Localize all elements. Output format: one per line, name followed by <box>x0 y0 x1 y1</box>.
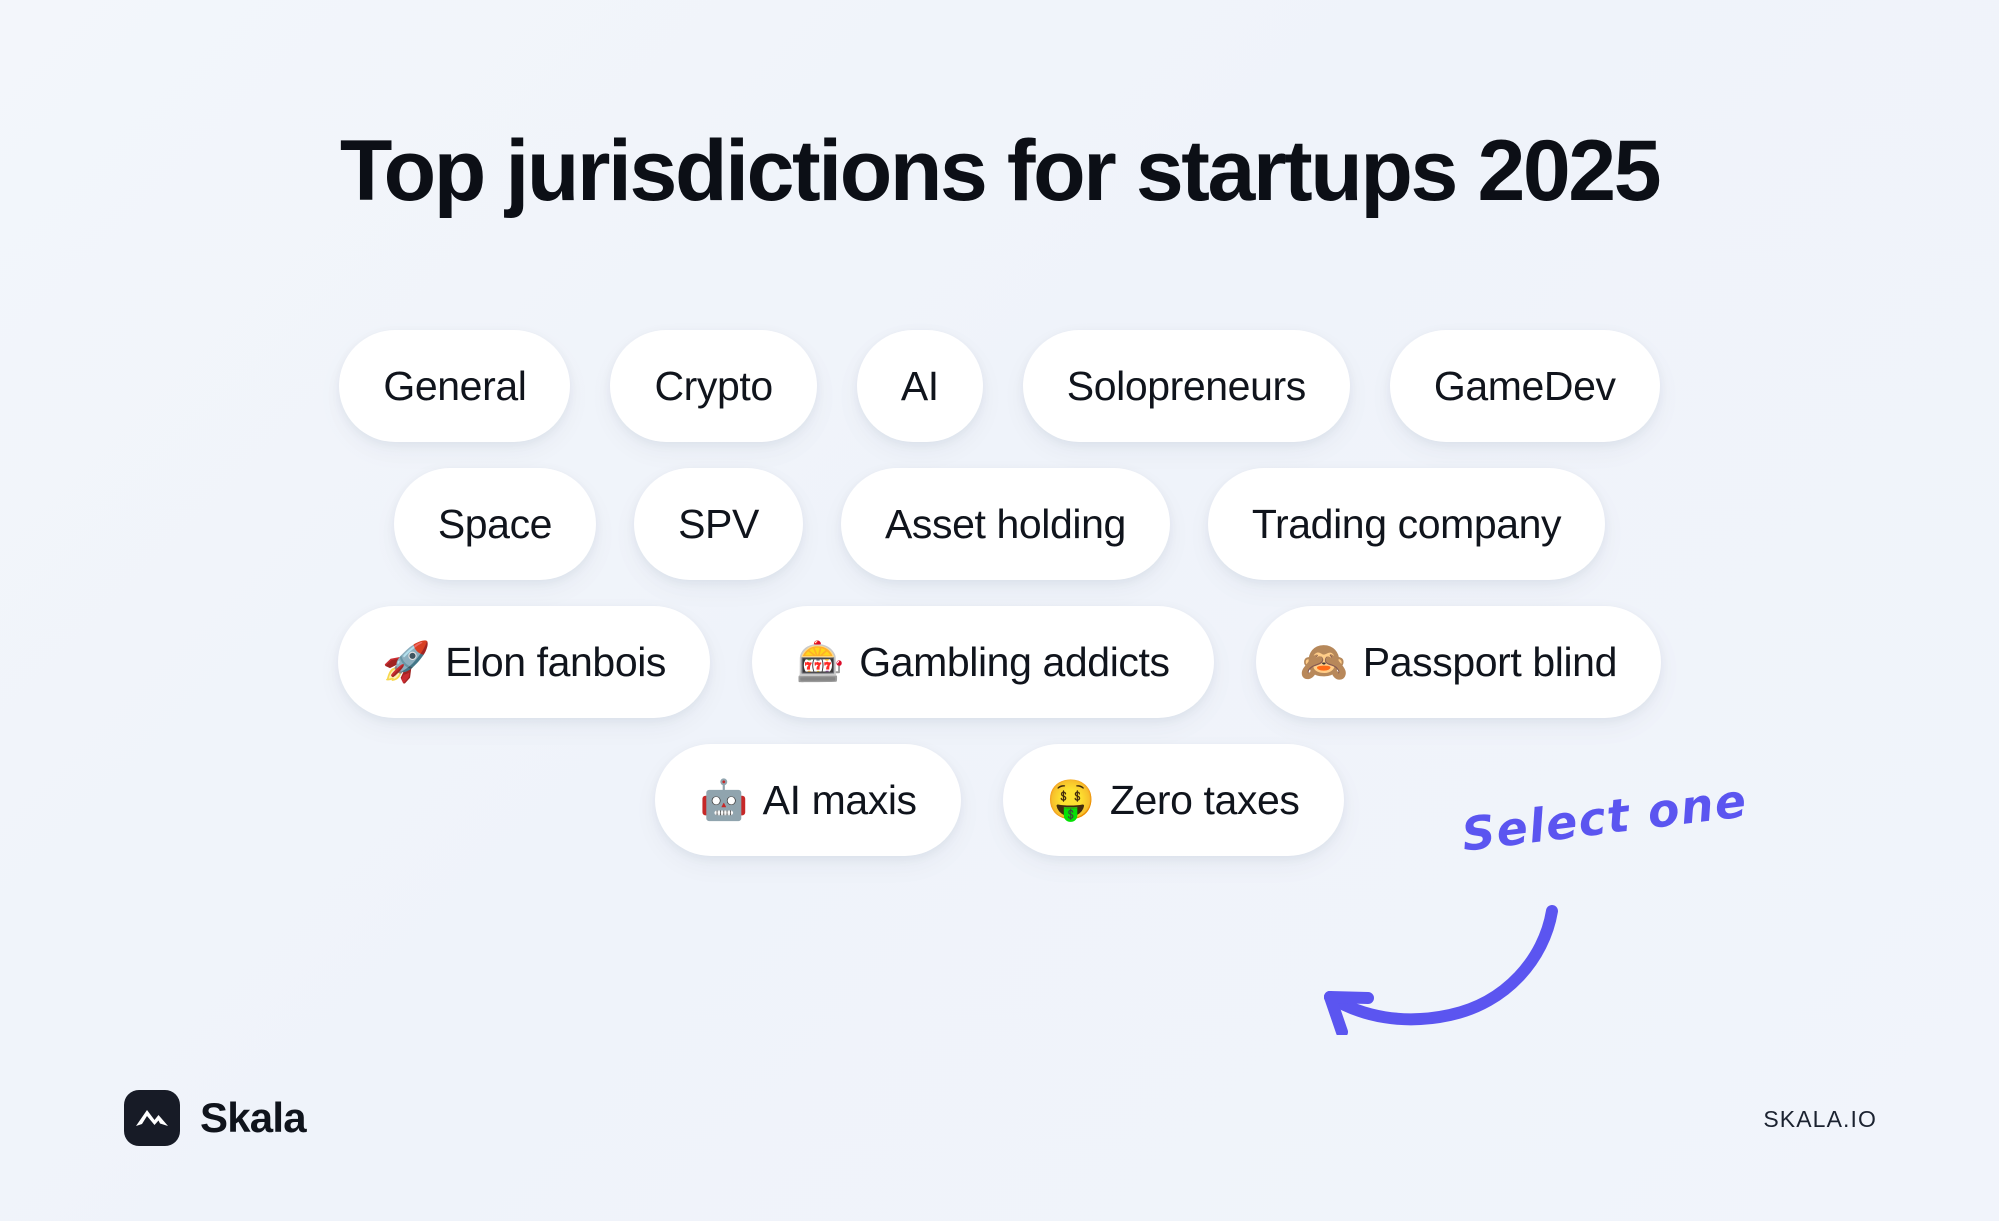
pill-label: Space <box>438 501 552 548</box>
slot-machine-icon: 🎰 <box>796 643 844 682</box>
pill-label: Gambling addicts <box>859 639 1169 686</box>
money-mouth-face-icon: 🤑 <box>1047 781 1095 820</box>
brand-lockup: Skala <box>124 1090 306 1146</box>
pill-spv[interactable]: SPV <box>634 468 803 580</box>
pill-label: Crypto <box>654 363 772 410</box>
pill-label: Trading company <box>1252 501 1561 548</box>
pill-zero-taxes[interactable]: 🤑 Zero taxes <box>1003 744 1344 856</box>
mountain-logo-icon <box>124 1090 180 1146</box>
pill-row-3: 🚀 Elon fanbois 🎰 Gambling addicts 🙈 Pass… <box>0 606 1999 718</box>
pill-gamedev[interactable]: GameDev <box>1390 330 1660 442</box>
pill-general[interactable]: General <box>339 330 570 442</box>
pill-label: Zero taxes <box>1110 777 1300 824</box>
see-no-evil-monkey-icon: 🙈 <box>1300 643 1348 682</box>
pill-elon-fanbois[interactable]: 🚀 Elon fanbois <box>338 606 710 718</box>
pill-label: Asset holding <box>885 501 1126 548</box>
pill-solopreneurs[interactable]: Solopreneurs <box>1023 330 1350 442</box>
pill-row-2: Space SPV Asset holding Trading company <box>0 468 1999 580</box>
site-url: SKALA.IO <box>1763 1106 1877 1133</box>
pill-passport-blind[interactable]: 🙈 Passport blind <box>1256 606 1661 718</box>
pill-ai[interactable]: AI <box>857 330 983 442</box>
pill-ai-maxis[interactable]: 🤖 AI maxis <box>655 744 960 856</box>
pill-trading-company[interactable]: Trading company <box>1208 468 1605 580</box>
pill-crypto[interactable]: Crypto <box>610 330 816 442</box>
pill-asset-holding[interactable]: Asset holding <box>841 468 1170 580</box>
pill-row-1: General Crypto AI Solopreneurs GameDev <box>0 330 1999 442</box>
brand-name: Skala <box>200 1094 306 1142</box>
robot-icon: 🤖 <box>699 781 747 820</box>
pill-label: GameDev <box>1434 363 1616 410</box>
pill-label: AI maxis <box>763 777 917 824</box>
rocket-icon: 🚀 <box>382 643 430 682</box>
pill-gambling-addicts[interactable]: 🎰 Gambling addicts <box>752 606 1214 718</box>
curved-arrow-icon <box>1300 905 1560 1035</box>
pill-label: General <box>383 363 526 410</box>
pill-label: SPV <box>678 501 759 548</box>
pill-label: Elon fanbois <box>445 639 666 686</box>
page-title: Top jurisdictions for startups 2025 <box>0 126 1999 216</box>
pill-space[interactable]: Space <box>394 468 596 580</box>
pill-label: AI <box>901 363 939 410</box>
pill-label: Passport blind <box>1363 639 1617 686</box>
pill-label: Solopreneurs <box>1067 363 1306 410</box>
poster-canvas: Top jurisdictions for startups 2025 Gene… <box>0 0 1999 1221</box>
